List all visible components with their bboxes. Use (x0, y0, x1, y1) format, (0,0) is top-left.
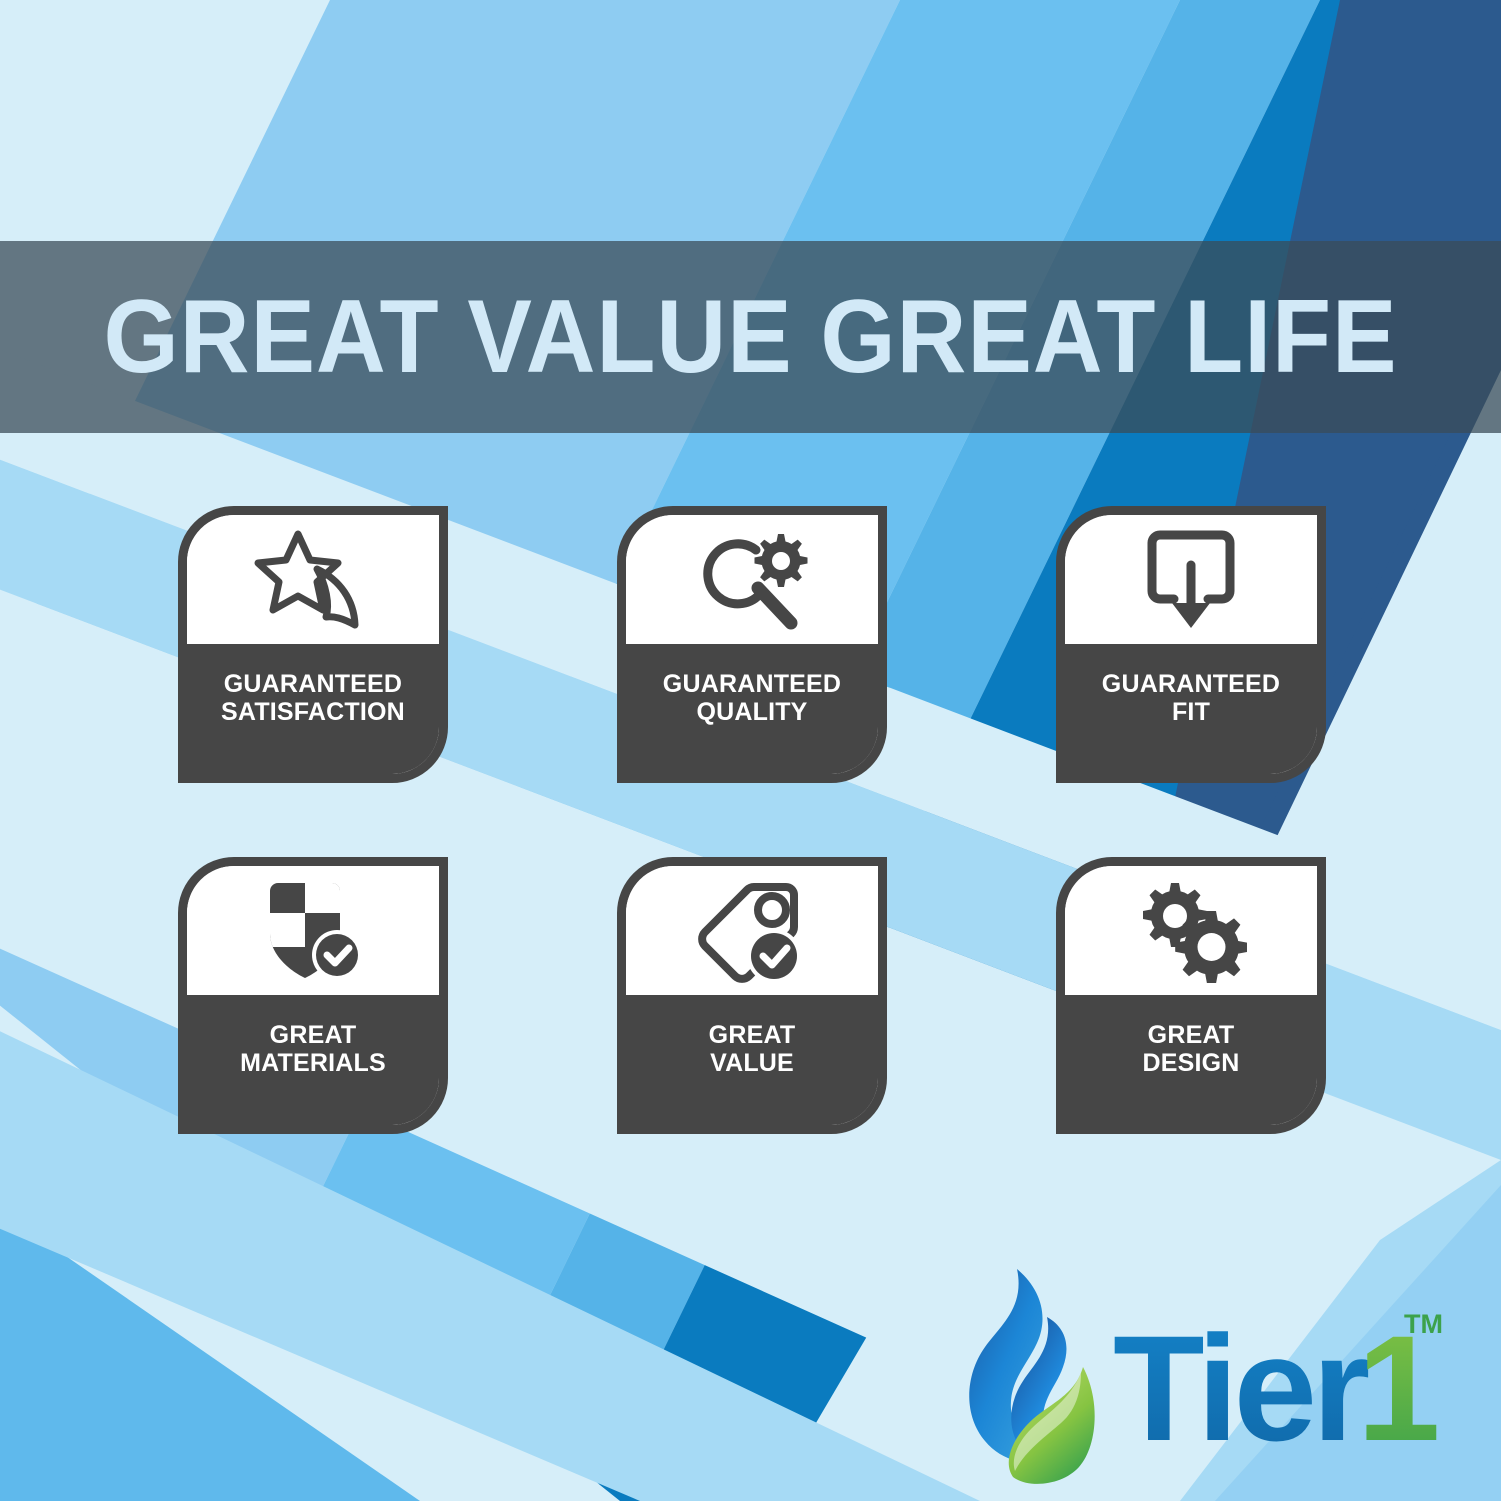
badge-icon-container (1065, 515, 1317, 644)
badge-label-container: GUARANTEED SATISFACTION (187, 644, 439, 774)
badge-label: GREAT MATERIALS (240, 1021, 386, 1077)
badge-label: GREAT VALUE (709, 1021, 796, 1077)
badge-label: GREAT DESIGN (1142, 1021, 1239, 1077)
shooting-star-icon (254, 528, 372, 632)
badge-icon-container (187, 515, 439, 644)
shield-check-icon (258, 877, 368, 985)
badge-card-guaranteed-satisfaction[interactable]: GUARANTEED SATISFACTION (178, 506, 448, 783)
flame-leaf-droplet-icon (969, 1269, 1094, 1484)
badge-label-container: GREAT VALUE (626, 995, 878, 1125)
badge-card-great-value[interactable]: GREAT VALUE (617, 857, 887, 1134)
badge-label-container: GREAT DESIGN (1065, 995, 1317, 1125)
badge-icon-container (626, 866, 878, 995)
magnifier-gear-icon (694, 528, 810, 632)
badge-label: GUARANTEED SATISFACTION (221, 670, 405, 726)
promo-graphic: GREAT VALUE GREAT LIFE GUARANTEED SATISF… (0, 0, 1501, 1501)
badge-card-guaranteed-quality[interactable]: GUARANTEED QUALITY (617, 506, 887, 783)
page-title: GREAT VALUE GREAT LIFE (53, 285, 1449, 389)
badge-icon-container (1065, 866, 1317, 995)
badge-label: GUARANTEED QUALITY (663, 670, 841, 726)
trademark-symbol: TM (1404, 1309, 1443, 1339)
badge-icon-container (626, 515, 878, 644)
gears-icon (1135, 879, 1247, 983)
badge-label: GUARANTEED FIT (1102, 670, 1280, 726)
badge-card-great-materials[interactable]: GREAT MATERIALS (178, 857, 448, 1134)
badge-icon-container (187, 866, 439, 995)
badge-card-great-design[interactable]: GREAT DESIGN (1056, 857, 1326, 1134)
price-tag-check-icon (694, 877, 810, 985)
feature-badge-grid: GUARANTEED SATISFACTION GUARANTEED QUALI… (178, 506, 1338, 1134)
badge-label-container: GREAT MATERIALS (187, 995, 439, 1125)
brand-wordmark: Tier (1113, 1304, 1369, 1472)
badge-label-container: GUARANTEED FIT (1065, 644, 1317, 774)
headline-banner: GREAT VALUE GREAT LIFE (0, 241, 1501, 433)
badge-card-guaranteed-fit[interactable]: GUARANTEED FIT (1056, 506, 1326, 783)
badge-label-container: GUARANTEED QUALITY (626, 644, 878, 774)
brand-logo: Tier 1 TM (955, 1255, 1445, 1490)
insert-down-arrow-icon (1144, 527, 1238, 633)
